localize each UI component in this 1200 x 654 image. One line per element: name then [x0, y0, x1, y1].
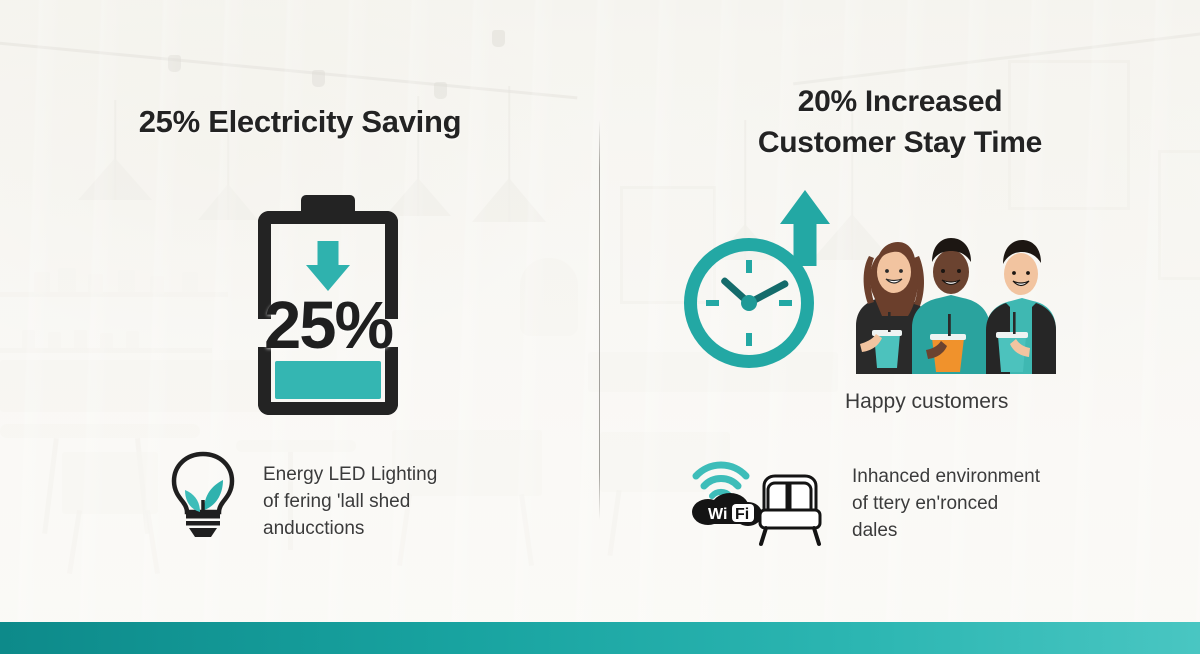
arrow-down-icon — [311, 241, 345, 289]
clock-tick — [746, 260, 752, 273]
right-headline-line1: 20% Increased — [600, 82, 1200, 123]
lightbulb-leaf-icon — [165, 448, 241, 540]
caption-line: Inhanced environment — [852, 464, 1040, 491]
battery-fill-bar — [275, 361, 381, 399]
right-headline: 20% Increased Customer Stay Time — [600, 82, 1200, 163]
wifi-label-fi: Fi — [735, 506, 749, 523]
right-headline-line2: Customer Stay Time — [600, 123, 1200, 164]
left-footer-row: Energy LED Lighting of fering 'lall shed… — [165, 448, 565, 543]
clock-face — [684, 238, 814, 368]
caption-line: of fering 'lall shed — [263, 489, 437, 516]
happy-customers-caption: Happy customers — [845, 390, 1008, 414]
left-headline: 25% Electricity Saving — [0, 104, 600, 140]
clock-icon — [676, 190, 856, 370]
left-footer-caption: Energy LED Lighting of fering 'lall shed… — [263, 448, 437, 543]
wifi-armchair-icon: Wi Fi — [686, 450, 834, 548]
right-footer-row: Wi Fi Inhanced environment of ttery en'r… — [686, 450, 1106, 548]
caption-line: dales — [852, 518, 1040, 545]
clock-center-hub — [741, 295, 757, 311]
clock-tick — [706, 300, 719, 306]
caption-line: Energy LED Lighting — [263, 462, 437, 489]
right-footer-caption: Inhanced environment of ttery en'ronced … — [852, 450, 1040, 545]
slide-content: 25% Electricity Saving 25% Energy — [0, 0, 1200, 654]
caption-line: anducctions — [263, 516, 437, 543]
battery-icon: 25% — [258, 195, 398, 415]
bottom-accent-bar — [0, 622, 1200, 654]
three-happy-customers-illustration — [838, 222, 1056, 374]
left-panel: 25% Electricity Saving 25% Energy — [0, 0, 600, 622]
battery-percent-label: 25% — [258, 287, 398, 364]
clock-tick — [746, 333, 752, 346]
caption-line: of ttery en'ronced — [852, 491, 1040, 518]
wifi-label-wi: Wi — [708, 506, 727, 523]
clock-tick — [779, 300, 792, 306]
